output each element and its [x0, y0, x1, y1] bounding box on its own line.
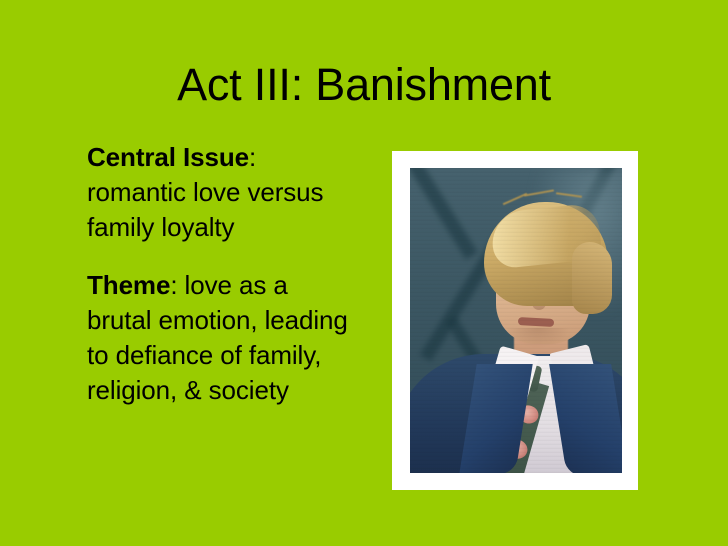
page-title: Act III: Banishment: [0, 60, 728, 110]
portrait-photo: [410, 168, 622, 473]
chin-shadow: [506, 328, 570, 348]
paragraph-lead-label: Central Issue: [87, 142, 249, 172]
hair-wisp: [524, 189, 554, 196]
photo-frame: [392, 151, 638, 490]
paragraph-lead-label: Theme: [87, 270, 170, 300]
person-figure: [410, 168, 622, 473]
hair-side: [572, 242, 612, 314]
body-text-column: Central Issue: romantic love versus fami…: [87, 140, 349, 408]
paragraph-theme: Theme: love as a brutal emotion, leading…: [87, 268, 349, 408]
hair-wisp: [556, 192, 582, 198]
paragraph-central-issue: Central Issue: romantic love versus fami…: [87, 140, 349, 245]
slide: Act III: Banishment Central Issue: roman…: [0, 0, 728, 546]
